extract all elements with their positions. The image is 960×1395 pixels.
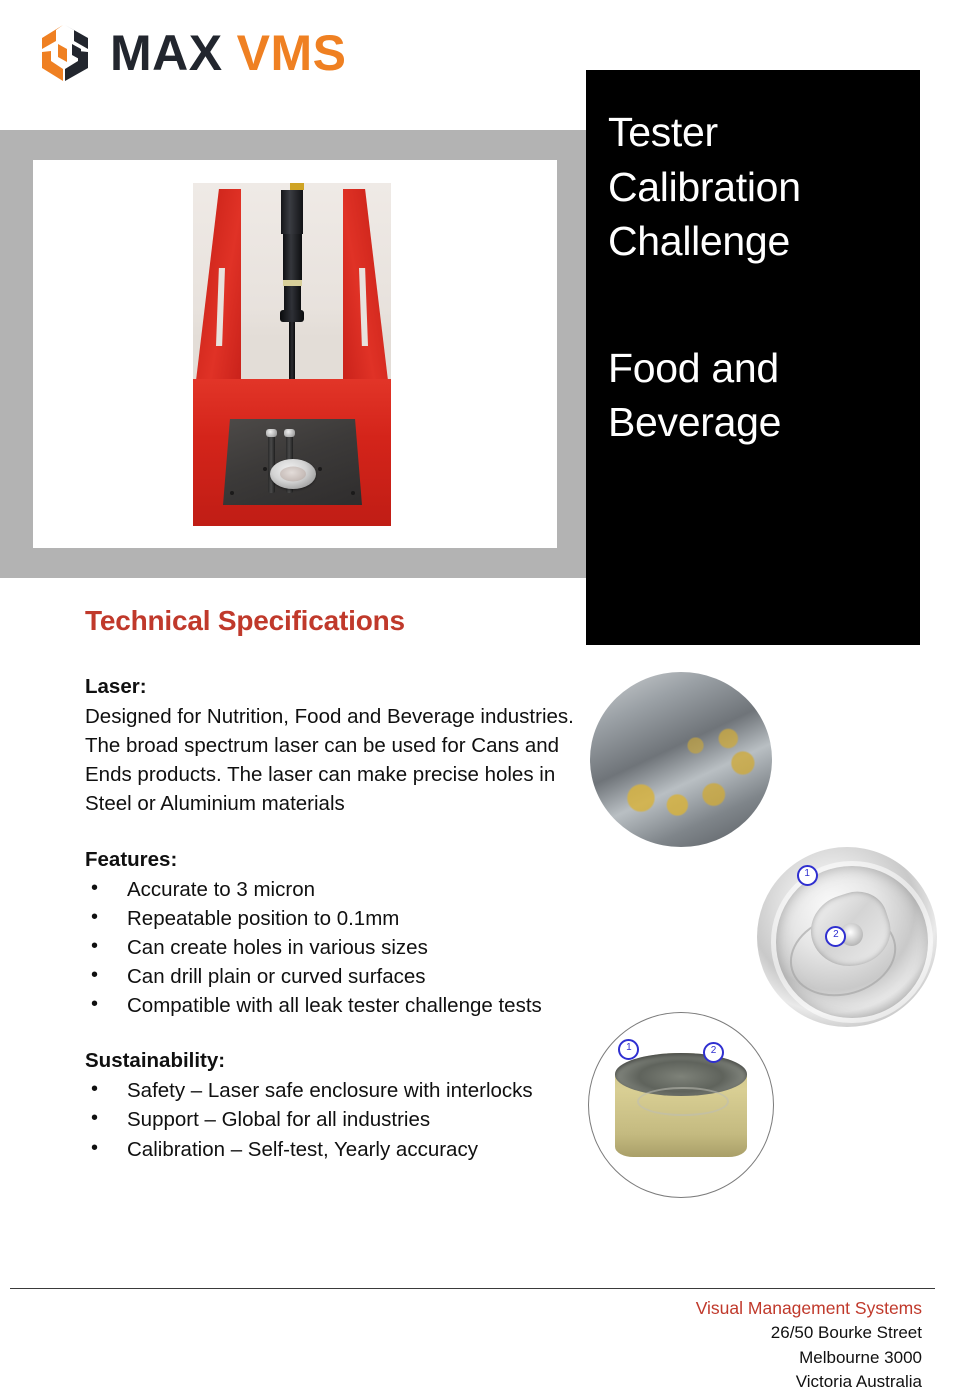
features-section-label: Features: [85, 845, 590, 874]
list-item: Repeatable position to 0.1mm [85, 904, 590, 933]
list-item: Accurate to 3 micron [85, 875, 590, 904]
machine-base-plate [223, 419, 362, 505]
hexagon-logo-icon [34, 22, 96, 84]
list-item: Can drill plain or curved surfaces [85, 962, 590, 991]
brand-wordmark: MAXVMS [110, 28, 346, 78]
brand-name-max: MAX [110, 25, 223, 81]
can-body-photo: 1 2 [588, 1012, 774, 1198]
footer-address-line-3: Victoria Australia [696, 1370, 922, 1394]
list-item: Calibration – Self-test, Yearly accuracy [85, 1135, 590, 1164]
sustainability-list: Safety – Laser safe enclosure with inter… [85, 1076, 590, 1163]
features-list: Accurate to 3 micron Repeatable position… [85, 875, 590, 1021]
footer-contact-block: Visual Management Systems 26/50 Bourke S… [696, 1296, 922, 1395]
headline-line-5: Beverage [608, 395, 890, 450]
machine-leg-left [195, 189, 241, 389]
list-item: Can create holes in various sizes [85, 933, 590, 962]
list-item: Safety – Laser safe enclosure with inter… [85, 1076, 590, 1105]
title-panel: Tester Calibration Challenge Food and Be… [586, 70, 920, 645]
brand-name-vms: VMS [237, 25, 347, 81]
laser-section-label: Laser: [85, 672, 590, 701]
technical-specifications-heading: Technical Specifications [85, 605, 405, 637]
machine-leg-right [343, 189, 389, 389]
machine-red-base [193, 379, 391, 526]
footer-address-line-2: Melbourne 3000 [696, 1346, 922, 1370]
footer-divider [10, 1288, 935, 1289]
headline-line-2: Calibration [608, 160, 890, 215]
list-item: Support – Global for all industries [85, 1105, 590, 1134]
footer-address-line-1: 26/50 Bourke Street [696, 1321, 922, 1345]
can-end-photo: 1 2 [757, 847, 937, 1027]
laser-machine-photo [193, 183, 391, 526]
footer-company-name: Visual Management Systems [696, 1296, 922, 1321]
sustainability-section-label: Sustainability: [85, 1046, 590, 1075]
headline-line-1: Tester [608, 105, 890, 160]
sample-holder-ring [270, 459, 316, 489]
laser-head [280, 183, 304, 382]
list-item: Compatible with all leak tester challeng… [85, 991, 590, 1020]
headline-line-3: Challenge [608, 214, 890, 269]
hero-photo-frame [33, 160, 557, 548]
laser-section-body: Designed for Nutrition, Food and Beverag… [85, 702, 590, 818]
annotation-marker-1: 1 [618, 1039, 639, 1060]
can-production-line-photo [590, 672, 772, 847]
brand-logo: MAXVMS [34, 22, 346, 84]
specifications-content: Laser: Designed for Nutrition, Food and … [85, 672, 590, 1164]
headline-secondary: Food and Beverage [608, 341, 890, 450]
headline-primary: Tester Calibration Challenge [608, 105, 890, 269]
headline-line-4: Food and [608, 341, 890, 396]
annotation-marker-1: 1 [797, 865, 818, 886]
